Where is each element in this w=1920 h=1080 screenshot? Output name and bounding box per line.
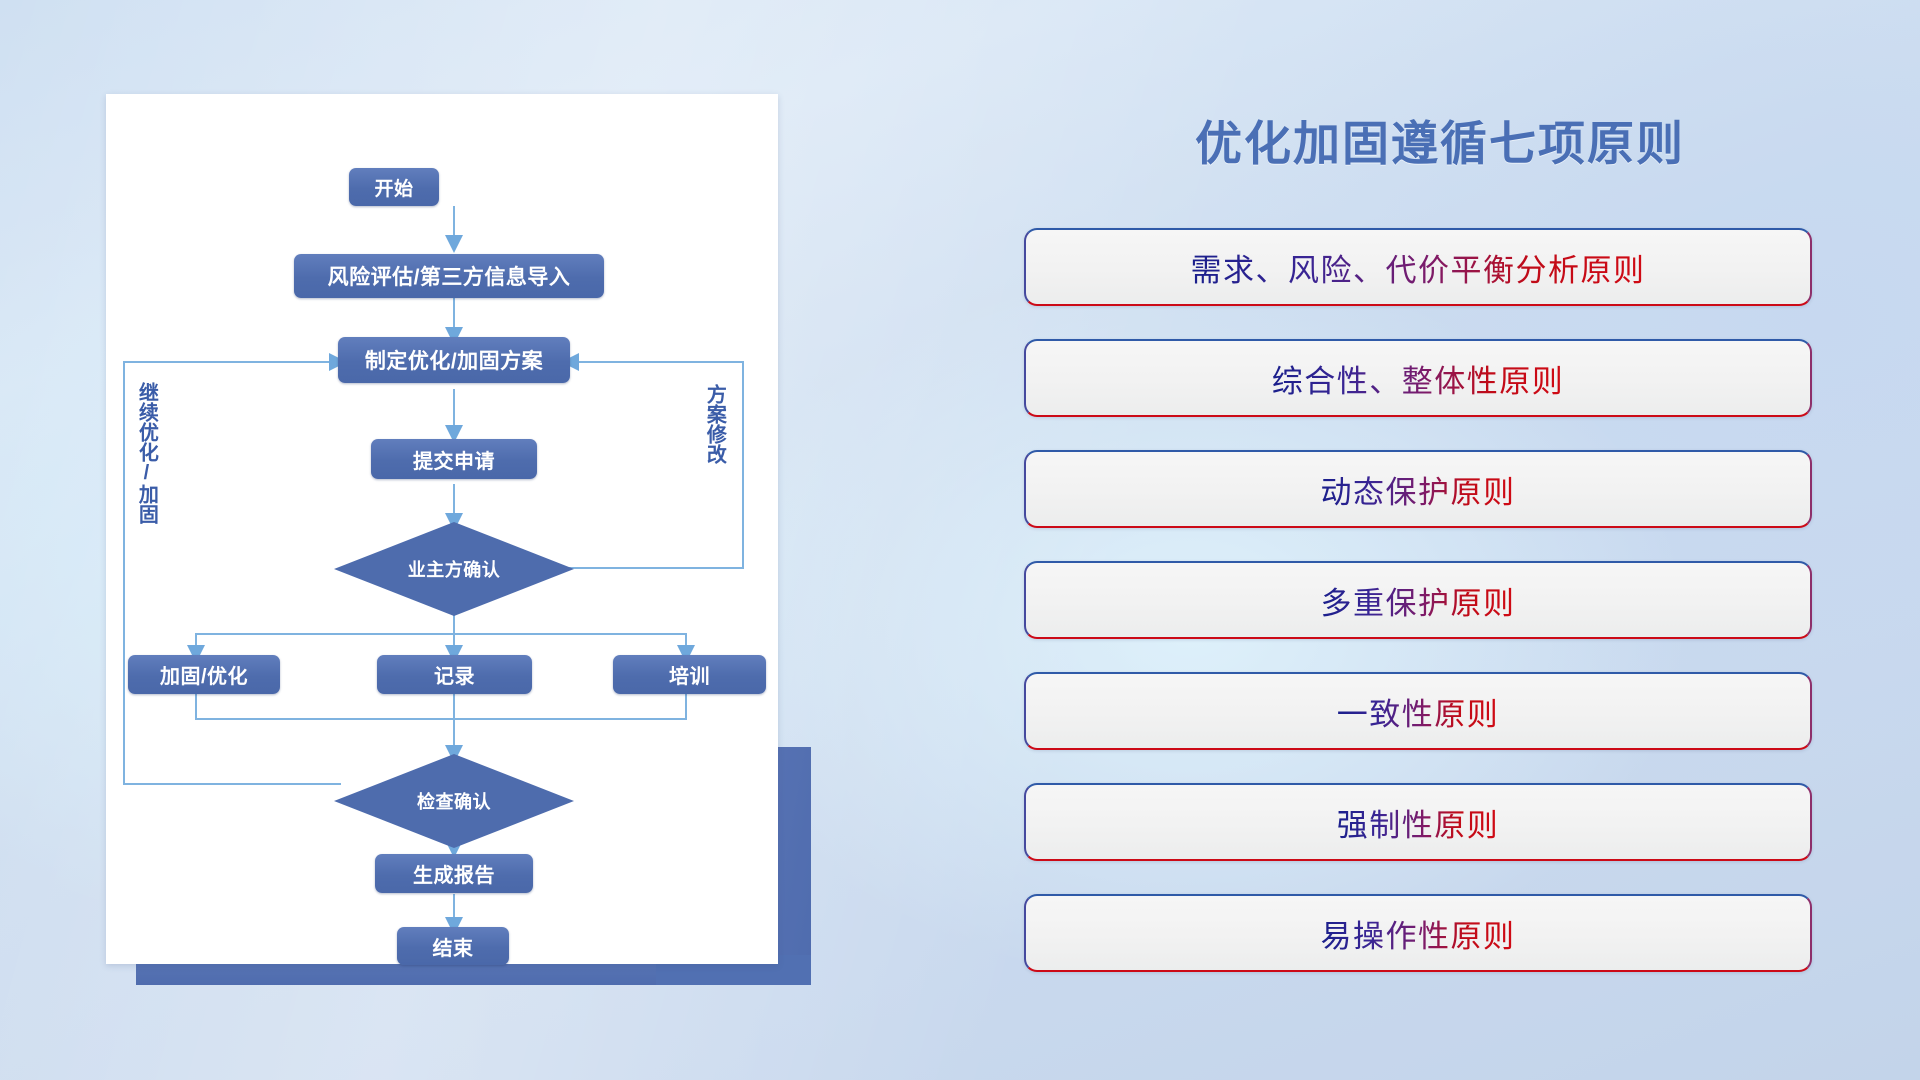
flow-node-risk-assessment[interactable]: 风险评估/第三方信息导入 <box>294 254 604 298</box>
flow-node-reinforce[interactable]: 加固/优化 <box>128 655 280 694</box>
principle-label: 强制性原则 <box>1337 800 1500 845</box>
flow-node-label: 加固/优化 <box>160 660 248 689</box>
flow-node-label: 培训 <box>669 660 710 689</box>
principle-item-7[interactable]: 易操作性原则 <box>1024 894 1812 972</box>
principle-item-5[interactable]: 一致性原则 <box>1024 672 1812 750</box>
flow-node-label: 提交申请 <box>413 445 495 474</box>
flow-node-label: 结束 <box>433 932 474 961</box>
principle-label: 一致性原则 <box>1337 689 1500 734</box>
edge-label-continue-optimize: 继续优化/加固 <box>136 382 156 562</box>
flow-node-label: 开始 <box>374 174 413 201</box>
flow-node-label: 记录 <box>434 660 475 689</box>
principles-panel: 优化加固遵循七项原则 需求、风险、代价平衡分析原则 综合性、整体性原则 动态保护… <box>1000 0 1920 1080</box>
slide-root: 开始 风险评估/第三方信息导入 制定优化/加固方案 提交申请 业主方确认 加固/… <box>0 0 1920 1080</box>
flow-node-generate-report[interactable]: 生成报告 <box>375 854 533 893</box>
flow-node-label: 风险评估/第三方信息导入 <box>328 261 571 291</box>
flow-node-plan[interactable]: 制定优化/加固方案 <box>338 337 570 383</box>
flow-node-label: 生成报告 <box>413 859 495 888</box>
principles-title: 优化加固遵循七项原则 <box>1000 105 1880 174</box>
edge-label-plan-revision: 方案修改 <box>704 384 724 504</box>
principles-list: 需求、风险、代价平衡分析原则 综合性、整体性原则 动态保护原则 多重保护原则 一… <box>1024 228 1812 1005</box>
flow-node-label: 检查确认 <box>417 788 491 814</box>
principle-label: 动态保护原则 <box>1321 467 1516 512</box>
principle-item-2[interactable]: 综合性、整体性原则 <box>1024 339 1812 417</box>
principle-item-1[interactable]: 需求、风险、代价平衡分析原则 <box>1024 228 1812 306</box>
principle-item-3[interactable]: 动态保护原则 <box>1024 450 1812 528</box>
flowchart-panel: 开始 风险评估/第三方信息导入 制定优化/加固方案 提交申请 业主方确认 加固/… <box>0 0 830 1080</box>
flow-node-label: 制定优化/加固方案 <box>365 345 543 375</box>
principle-label: 综合性、整体性原则 <box>1272 356 1565 401</box>
principle-item-6[interactable]: 强制性原则 <box>1024 783 1812 861</box>
flow-node-label: 业主方确认 <box>408 556 501 582</box>
flow-node-start[interactable]: 开始 <box>349 168 439 206</box>
principle-label: 多重保护原则 <box>1321 578 1516 623</box>
flow-node-end[interactable]: 结束 <box>397 927 509 965</box>
flowchart-card: 开始 风险评估/第三方信息导入 制定优化/加固方案 提交申请 业主方确认 加固/… <box>106 94 778 964</box>
flow-node-record[interactable]: 记录 <box>377 655 532 694</box>
principle-item-4[interactable]: 多重保护原则 <box>1024 561 1812 639</box>
principle-label: 易操作性原则 <box>1321 911 1516 956</box>
flow-node-submit-application[interactable]: 提交申请 <box>371 439 537 479</box>
flow-node-training[interactable]: 培训 <box>613 655 766 694</box>
principle-label: 需求、风险、代价平衡分析原则 <box>1191 245 1646 290</box>
